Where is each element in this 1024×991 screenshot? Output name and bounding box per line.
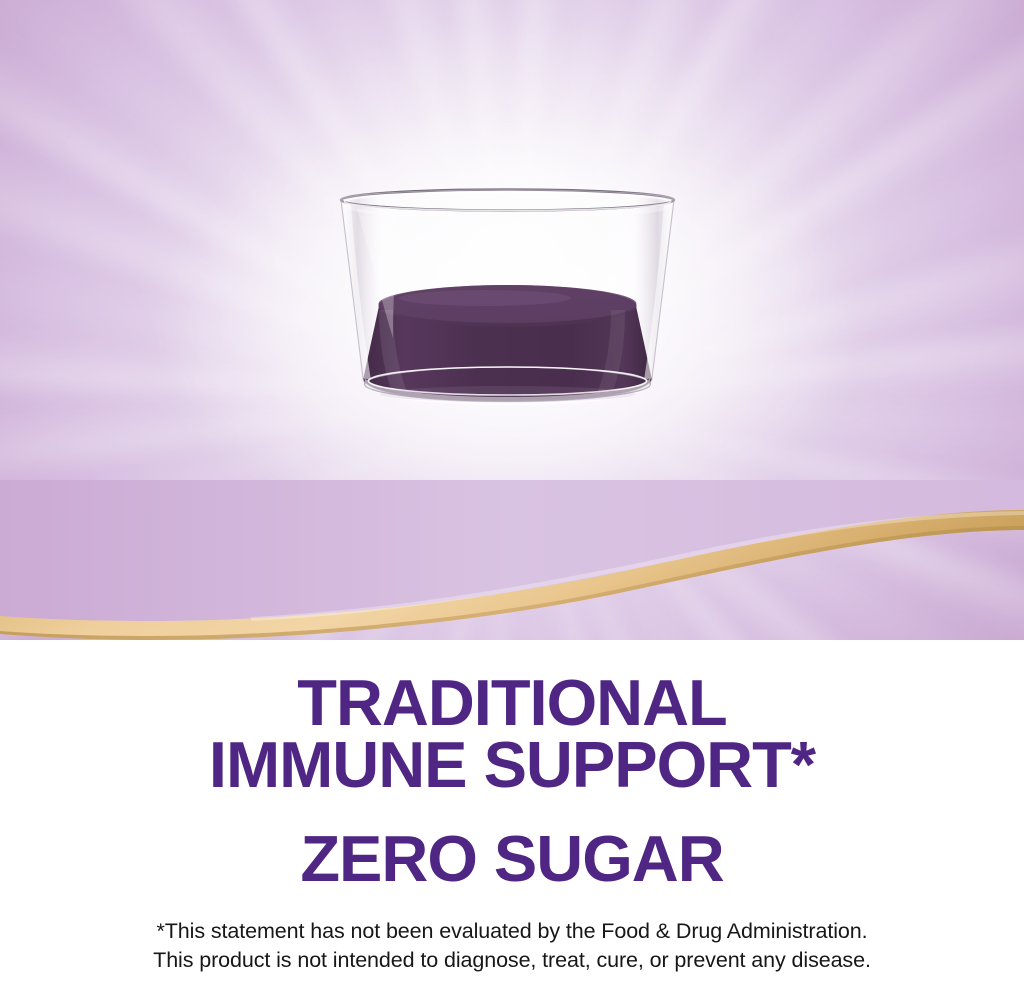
bowl-liquid [363, 285, 652, 402]
glass-bowl-image [335, 188, 680, 413]
headline-line-2: IMMUNE SUPPORT* [0, 734, 1024, 796]
subheadline: ZERO SUGAR [0, 828, 1024, 890]
copy-section: TRADITIONAL IMMUNE SUPPORT* ZERO SUGAR *… [0, 640, 1024, 991]
product-marketing-panel: TRADITIONAL IMMUNE SUPPORT* ZERO SUGAR *… [0, 0, 1024, 991]
headline: TRADITIONAL IMMUNE SUPPORT* [0, 672, 1024, 796]
disclaimer-line-1: *This statement has not been evaluated b… [0, 917, 1024, 946]
disclaimer: *This statement has not been evaluated b… [0, 917, 1024, 975]
bowl-shadow [380, 386, 636, 402]
hero-background [0, 0, 1024, 640]
disclaimer-line-2: This product is not intended to diagnose… [0, 946, 1024, 975]
headline-line-1: TRADITIONAL [0, 672, 1024, 734]
glass-bowl-graphic [335, 188, 680, 413]
